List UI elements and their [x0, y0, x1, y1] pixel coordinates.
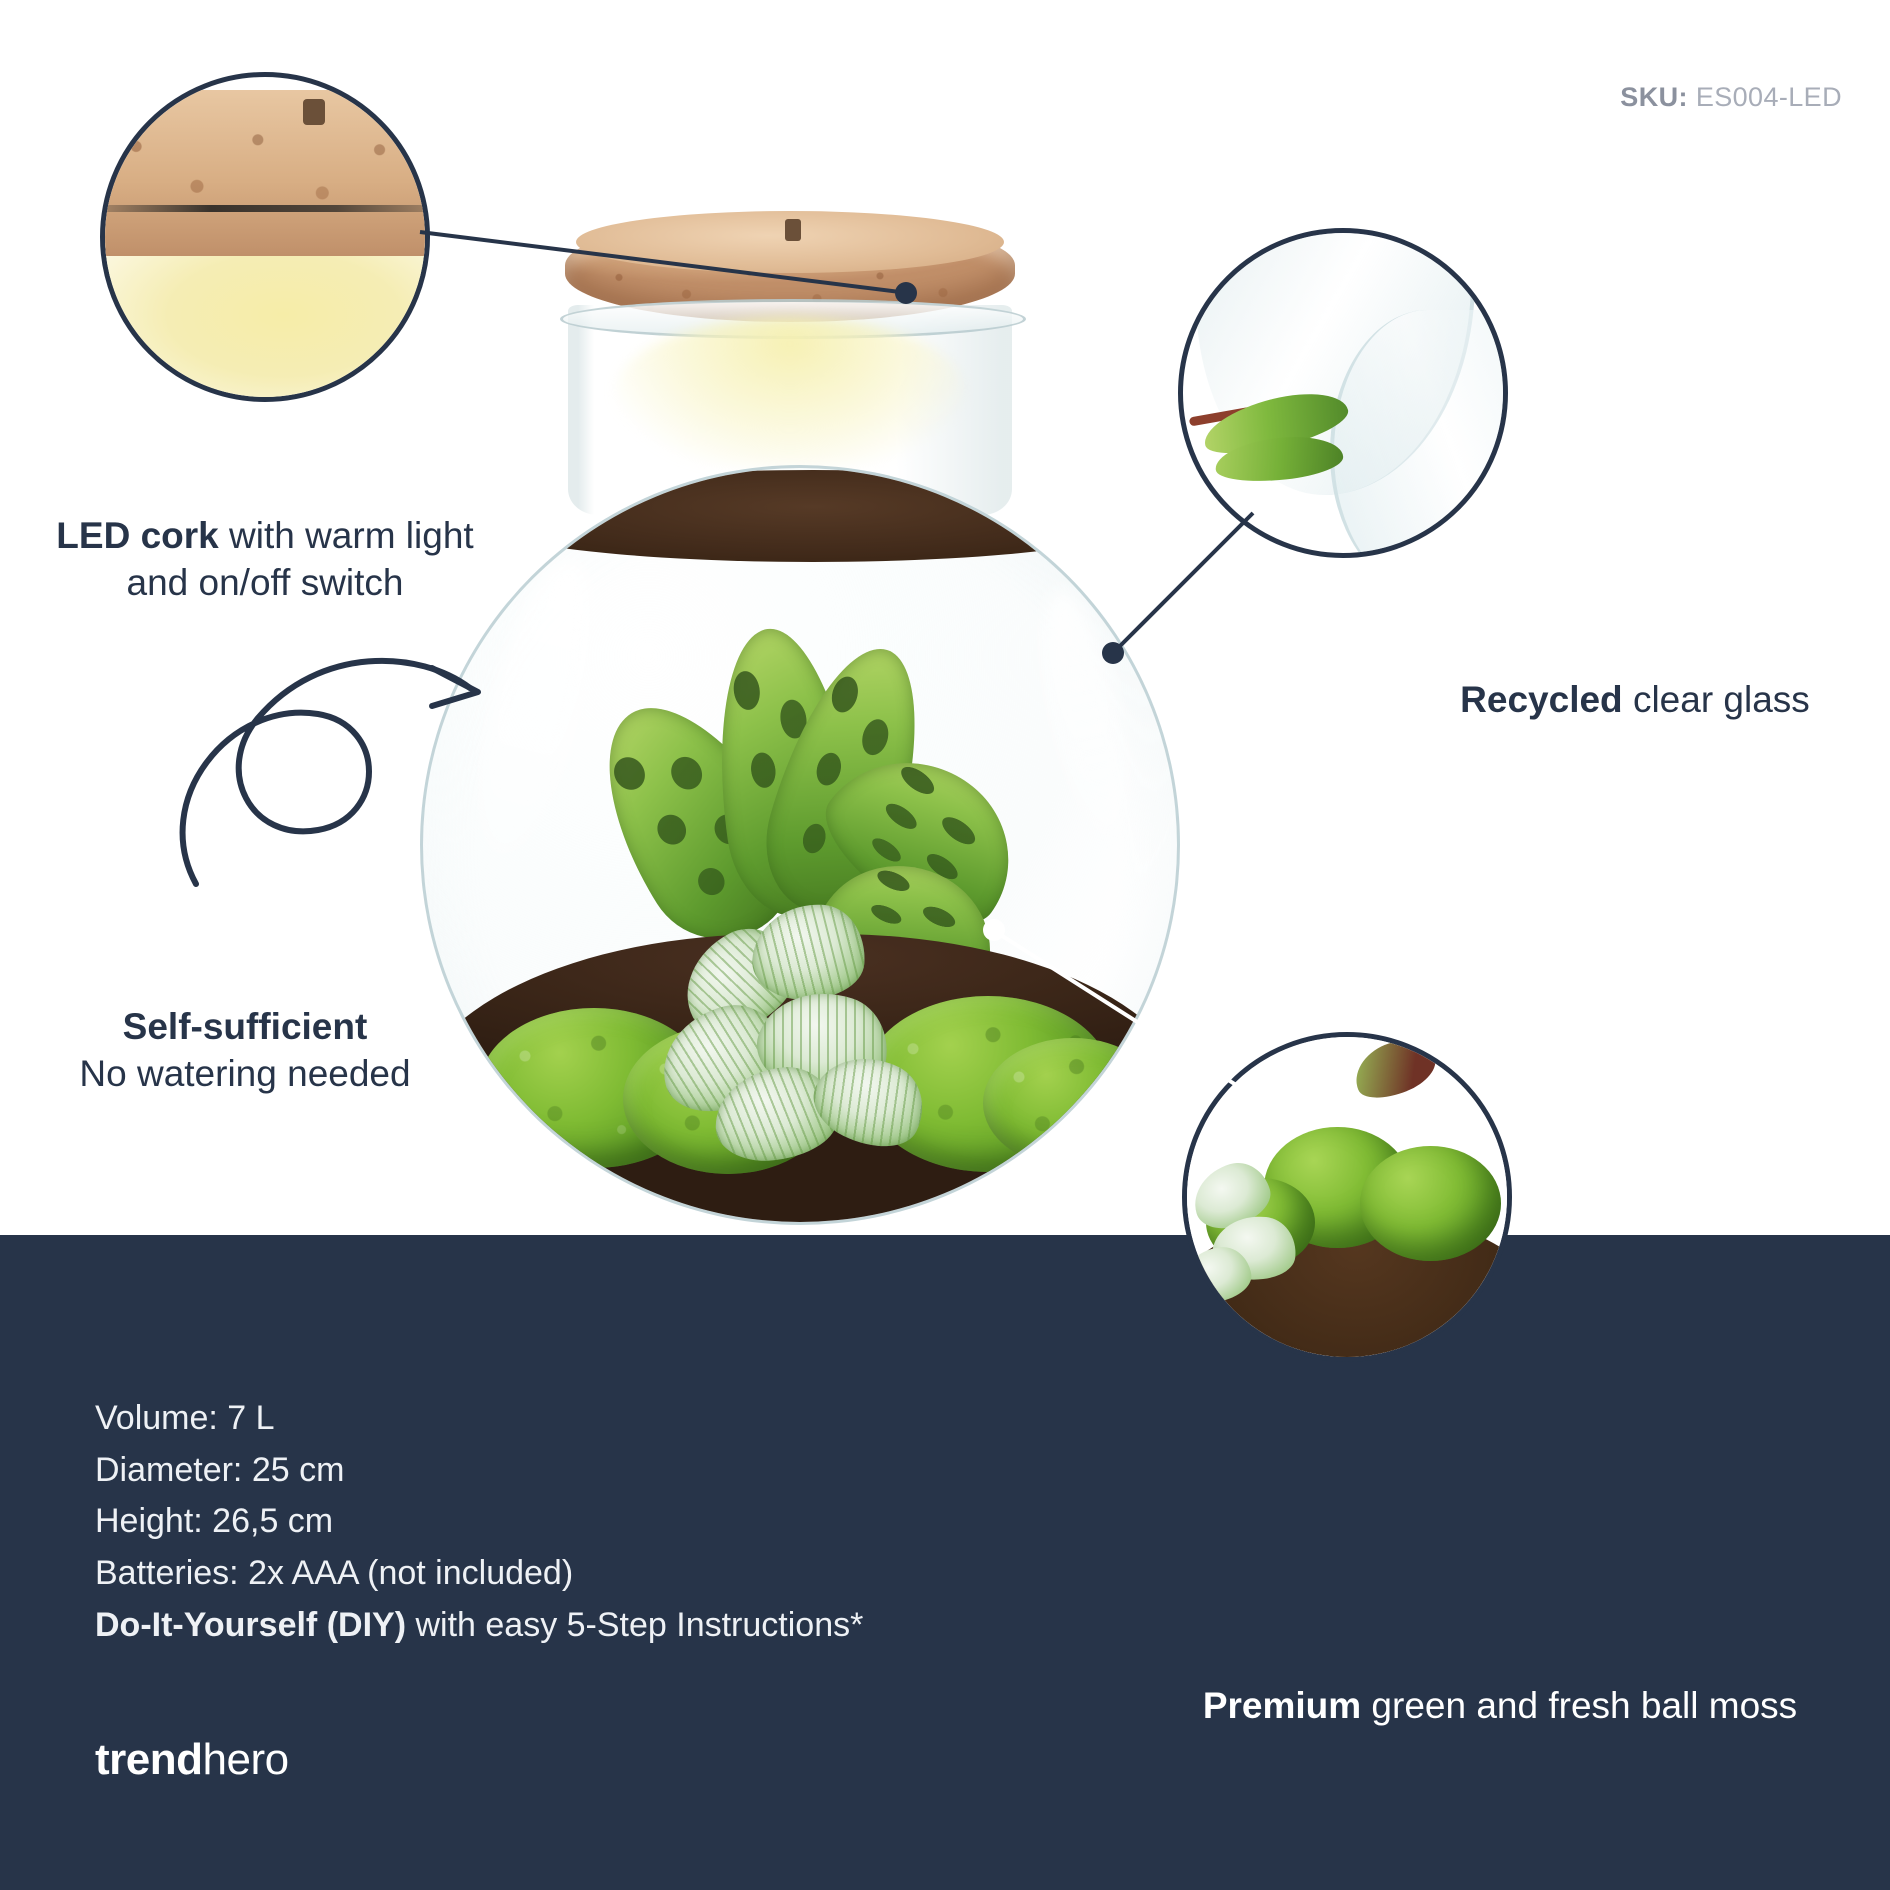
brand-logo-bold: trend [95, 1735, 203, 1784]
soil-surface [463, 470, 1163, 562]
callout-text-premium-moss: Premium green and fresh ball moss [1120, 1682, 1880, 1729]
spec-diy: Do-It-Yourself (DIY) with easy 5-Step In… [95, 1600, 863, 1652]
sku-value: ES004-LED [1696, 82, 1842, 112]
ball-moss-far-right [983, 1038, 1163, 1168]
switch-nub-detail [303, 99, 325, 125]
led-warm-glow [615, 317, 965, 467]
specifications-list: Volume: 7 L Diameter: 25 cm Height: 26,5… [95, 1393, 863, 1651]
terrarium-product-image [400, 195, 1200, 1265]
spec-height: Height: 26,5 cm [95, 1496, 863, 1548]
brand-logo-light: hero [203, 1735, 289, 1784]
sku-label: SKU: ES004-LED [1620, 82, 1842, 113]
glass-sphere [420, 465, 1180, 1225]
cork-seam [100, 205, 430, 212]
callout-bold-moss: Premium [1203, 1685, 1361, 1726]
spec-diy-bold: Do-It-Yourself (DIY) [95, 1606, 406, 1644]
callout-text-led-cork: LED cork with warm light and on/off swit… [40, 512, 490, 607]
sku-prefix: SKU: [1620, 82, 1688, 112]
callout-bold-recycled: Recycled [1460, 679, 1623, 720]
spec-diameter: Diameter: 25 cm [95, 1445, 863, 1497]
led-switch-nub [785, 219, 801, 241]
callout-bold-self: Self-sufficient [123, 1006, 368, 1047]
moss-texture [983, 1038, 1163, 1168]
brand-logo: trendhero [95, 1735, 289, 1785]
cork-detail-texture [100, 90, 430, 256]
callout-bold-led-cork: LED cork [56, 515, 218, 556]
callout-rest-self: No watering needed [79, 1053, 410, 1094]
led-cork-detail-circle [100, 72, 430, 402]
callout-rest-recycled: clear glass [1623, 679, 1810, 720]
spec-diy-rest: with easy 5-Step Instructions* [406, 1606, 863, 1644]
recycled-glass-detail-circle [1178, 228, 1508, 558]
callout-text-recycled-glass: Recycled clear glass [1400, 676, 1870, 723]
moss-detail-circle [1182, 1032, 1512, 1362]
spec-volume: Volume: 7 L [95, 1393, 863, 1445]
glass-highlight-right [1029, 584, 1146, 852]
spec-batteries: Batteries: 2x AAA (not included) [95, 1548, 863, 1600]
led-glow-detail [100, 243, 430, 402]
moss-clump-detail-2 [1360, 1146, 1501, 1261]
callout-text-self-sufficient: Self-sufficient No watering needed [20, 1003, 470, 1098]
infographic-root: SKU: ES004-LED [0, 0, 1890, 1890]
callout-rest-moss: green and fresh ball moss [1361, 1685, 1797, 1726]
